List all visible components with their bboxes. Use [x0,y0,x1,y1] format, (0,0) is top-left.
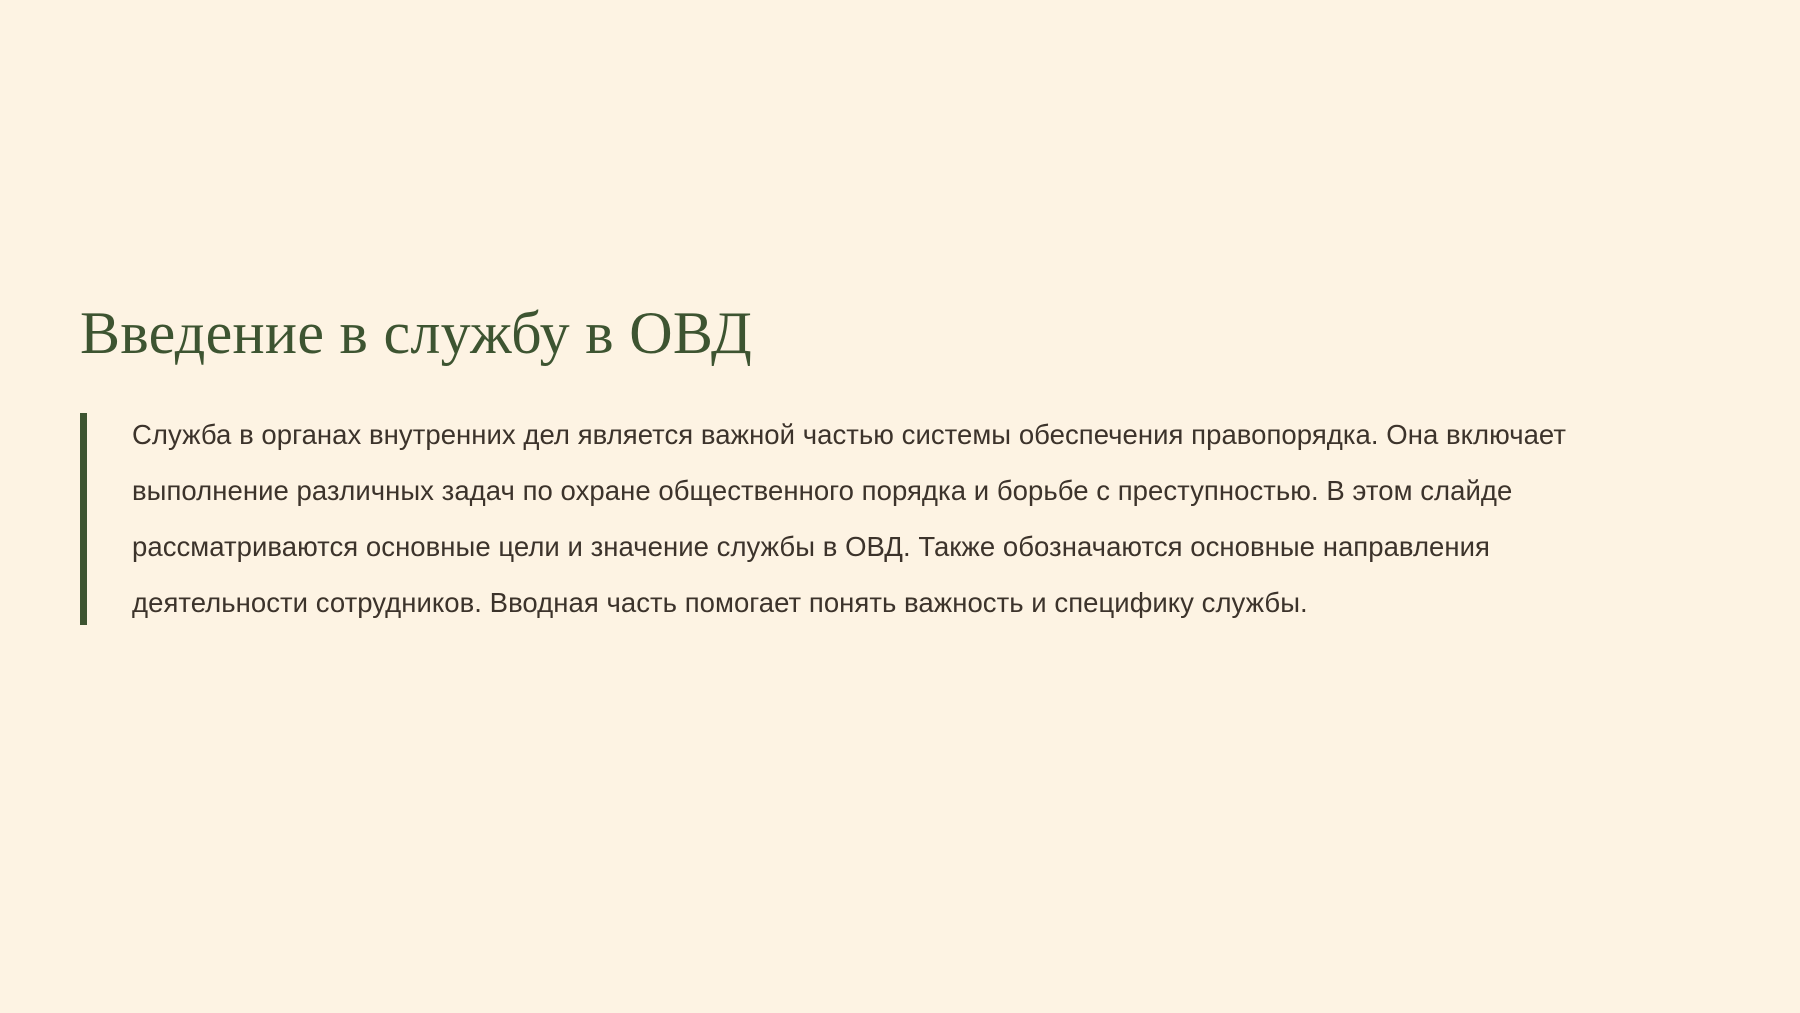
page-title: Введение в службу в ОВД [80,300,1720,367]
slide-content-block: Введение в службу в ОВД Служба в органах… [80,300,1720,631]
accent-bar [80,413,87,625]
body-paragraph: Служба в органах внутренних дел является… [132,407,1662,631]
slide-canvas: Введение в службу в ОВД Служба в органах… [0,0,1800,1013]
body-text-block: Служба в органах внутренних дел является… [80,407,1720,631]
